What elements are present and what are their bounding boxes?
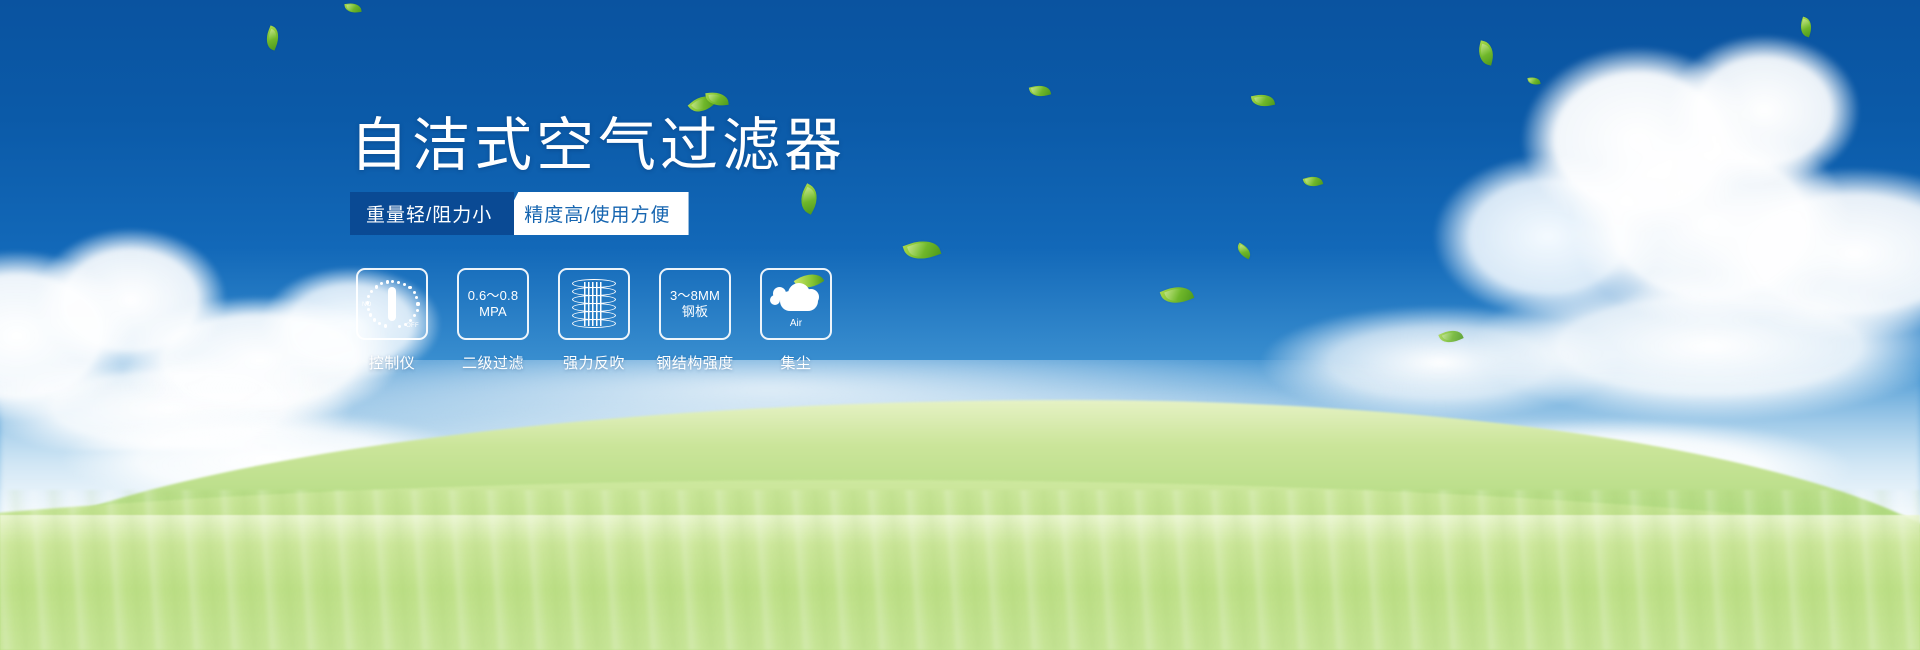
feature-item-dust[interactable]: Air 集尘	[760, 268, 832, 373]
coil-filter-icon	[572, 279, 616, 329]
banner-content: 自洁式空气过滤器 重量轻/阻力小 精度高/使用方便	[0, 0, 1920, 650]
hero-banner: 自洁式空气过滤器 重量轻/阻力小 精度高/使用方便	[0, 0, 1920, 650]
feature-label: 控制仪	[369, 352, 416, 373]
steel-value-line1: 3～8MM	[670, 288, 720, 304]
gauge-off-label: OFF	[406, 323, 419, 329]
tagline-primary: 重量轻/阻力小	[350, 192, 514, 235]
gauge-needle	[388, 287, 396, 321]
feature-item-steel[interactable]: 3～8MM 钢板 钢结构强度	[659, 268, 731, 373]
feature-icon-box: 3～8MM 钢板	[659, 268, 731, 340]
pressure-value-line1: 0.6～0.8	[468, 288, 519, 304]
tagline-secondary: 精度高/使用方便	[496, 192, 688, 235]
feature-item-filtration[interactable]: 0.6～0.8 MPA 二级过滤	[457, 268, 529, 373]
gauge-dial-icon: NO OFF	[364, 278, 420, 330]
air-cloud-icon: Air	[770, 281, 822, 327]
air-label: Air	[770, 318, 822, 329]
feature-label: 集尘	[780, 352, 811, 373]
pressure-value-line2: MPA	[479, 304, 507, 320]
feature-icon-box: 0.6～0.8 MPA	[457, 268, 529, 340]
gauge-on-label: NO	[362, 302, 372, 308]
feature-label: 钢结构强度	[656, 352, 734, 373]
page-title: 自洁式空气过滤器	[350, 113, 1150, 179]
feature-label: 二级过滤	[462, 352, 524, 373]
steel-value-line2: 钢板	[682, 304, 708, 320]
feature-label: 强力反吹	[563, 352, 625, 373]
feature-icon-box: Air	[760, 268, 832, 340]
feature-icon-box	[558, 268, 630, 340]
feature-list: NO OFF 控制仪 0.6～0.8 MPA 二级过滤	[356, 268, 832, 373]
feature-item-control[interactable]: NO OFF 控制仪	[356, 268, 428, 373]
feature-item-blowback[interactable]: 强力反吹	[558, 268, 630, 373]
feature-icon-box: NO OFF	[356, 268, 428, 340]
tagline: 重量轻/阻力小 精度高/使用方便	[350, 192, 689, 235]
